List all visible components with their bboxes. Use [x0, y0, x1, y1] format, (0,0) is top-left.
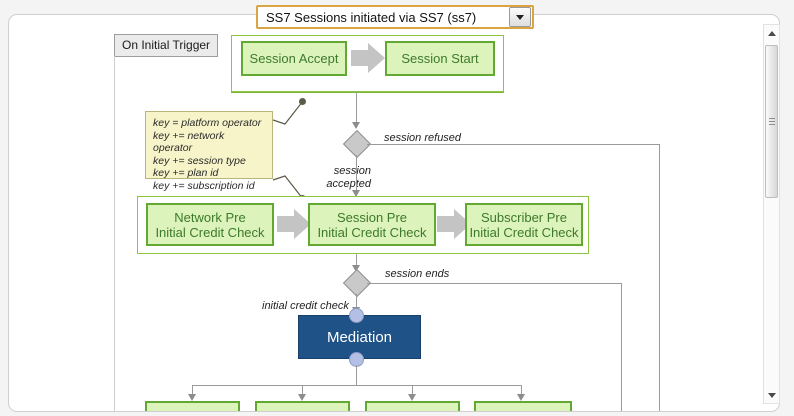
note-key-composition: key = platform operator key += network o… — [145, 111, 273, 179]
dropdown-toggle-button[interactable] — [509, 7, 531, 27]
node-subscriber-pre-initial-credit-check[interactable]: Subscriber Pre Initial Credit Check — [465, 203, 583, 246]
session-type-dropdown[interactable]: SS7 Sessions initiated via SS7 (ss7) — [256, 5, 534, 29]
group-rail-top — [231, 92, 504, 93]
chevron-down-icon — [516, 15, 524, 20]
triangle-up-icon — [768, 31, 776, 36]
scroll-thumb[interactable] — [765, 45, 778, 198]
note-anchor-dot-top — [299, 98, 306, 105]
route-session-ends-h — [367, 283, 622, 284]
note-anchor-connectors — [267, 91, 327, 207]
node-initial-credit-2[interactable]: Initial Credit — [255, 401, 350, 411]
route-session-ends-v — [621, 283, 622, 411]
node-initial-control-2[interactable]: Initial Control — [474, 401, 572, 411]
node-network-pre-initial-credit-check[interactable]: Network Pre Initial Credit Check — [146, 203, 274, 246]
node-initial-control-1[interactable]: Initial Control — [365, 401, 460, 411]
app-root: On Initial Trigger Session Accept Sessio… — [0, 0, 794, 416]
edge-label-session-ends: session ends — [385, 268, 449, 281]
scroll-down-button[interactable] — [764, 387, 779, 403]
lane-label-on-initial-trigger: On Initial Trigger — [114, 34, 218, 57]
arrowhead-initial-control-2 — [517, 394, 525, 401]
node-initial-credit-1[interactable]: Initial Credit — [145, 401, 240, 411]
vertical-scrollbar[interactable] — [763, 24, 780, 404]
route-session-refused-h — [367, 144, 659, 145]
arrowhead-initial-credit-1 — [188, 394, 196, 401]
fanout-bus — [192, 385, 522, 386]
node-session-pre-initial-credit-check[interactable]: Session Pre Initial Credit Check — [308, 203, 436, 246]
edge-label-initial-credit-check: initial credit check — [262, 300, 349, 313]
node-session-accept[interactable]: Session Accept — [241, 41, 347, 76]
diagram-canvas[interactable]: On Initial Trigger Session Accept Sessio… — [9, 15, 761, 411]
arrowhead-initial-credit-2 — [298, 394, 306, 401]
right-gutter — [780, 0, 794, 416]
flow-chevron-icon — [351, 41, 385, 75]
scroll-up-button[interactable] — [764, 25, 779, 41]
node-session-start[interactable]: Session Start — [385, 41, 495, 76]
arrowhead-to-decision-1 — [352, 122, 360, 129]
flow-chevron-icon-2 — [277, 207, 311, 241]
mediation-port-top[interactable] — [349, 308, 364, 323]
arrowhead-initial-control-1 — [408, 394, 416, 401]
route-session-refused-v — [659, 144, 660, 411]
edge-label-session-accepted: session accepted — [319, 165, 371, 191]
session-type-dropdown-value: SS7 Sessions initiated via SS7 (ss7) — [258, 10, 509, 25]
connector-mediation-to-bus — [356, 365, 357, 386]
lane-boundary-line — [114, 56, 115, 411]
grip-lines-icon — [769, 118, 775, 125]
triangle-down-icon — [768, 393, 776, 398]
